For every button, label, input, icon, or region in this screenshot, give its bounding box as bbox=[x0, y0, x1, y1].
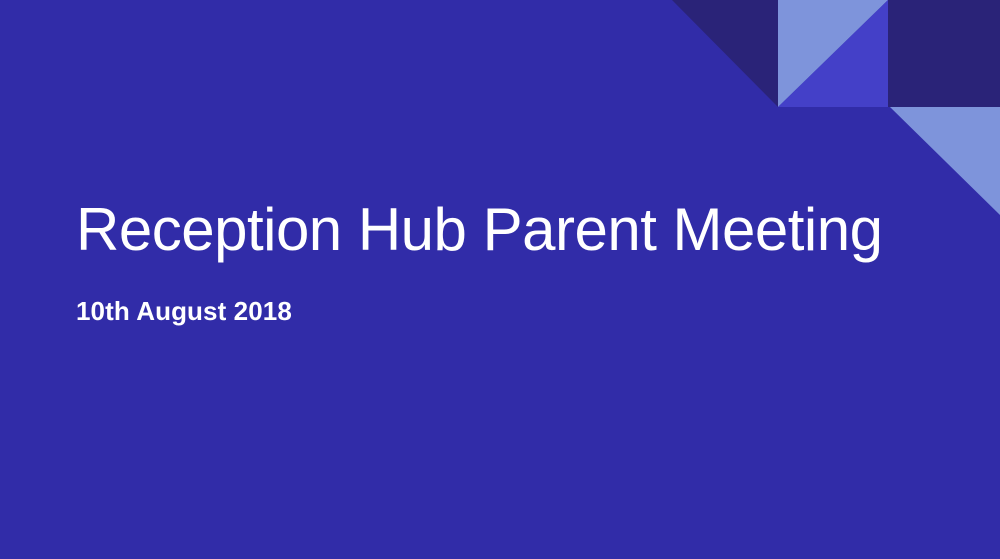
dark-navy-block-shape bbox=[888, 0, 1000, 107]
title-slide: Reception Hub Parent Meeting 10th August… bbox=[0, 0, 1000, 559]
page-subtitle-date: 10th August 2018 bbox=[76, 296, 936, 327]
title-block: Reception Hub Parent Meeting 10th August… bbox=[76, 196, 936, 327]
medium-blue-triangle-shape bbox=[778, 0, 888, 107]
dark-navy-triangle-shape bbox=[672, 0, 778, 107]
light-periwinkle-triangle-shape bbox=[778, 0, 888, 107]
page-title: Reception Hub Parent Meeting bbox=[76, 196, 936, 263]
